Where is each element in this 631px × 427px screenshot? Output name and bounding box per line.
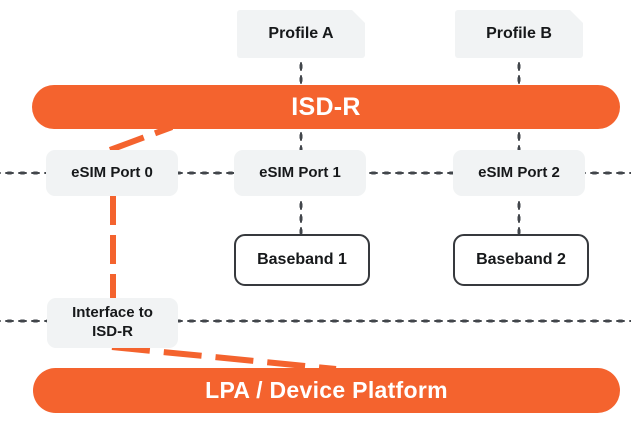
baseband-1-label: Baseband 1	[257, 251, 347, 269]
profile-b-label: Profile B	[486, 24, 552, 44]
isdr-label: ISD-R	[291, 93, 361, 122]
interface-to-isdr-box[interactable]: Interface to ISD-R	[47, 298, 178, 348]
diagram-canvas: Profile A Profile B ISD-R eSIM Port 0 eS…	[0, 0, 631, 427]
profile-b-box[interactable]: Profile B	[455, 10, 583, 58]
connector-profile-a-to-isdr	[299, 60, 303, 86]
esim-port-2-box[interactable]: eSIM Port 2	[453, 150, 585, 196]
esim-port-0-box[interactable]: eSIM Port 0	[46, 150, 178, 196]
interface-to-isdr-label-line1: Interface to	[72, 304, 153, 323]
baseband-2-box[interactable]: Baseband 2	[453, 234, 589, 286]
esim-port-0-label: eSIM Port 0	[71, 164, 153, 183]
profile-a-box[interactable]: Profile A	[237, 10, 365, 58]
connector-port1-to-baseband1	[299, 199, 303, 234]
dashed-link-interface-to-lpa	[112, 347, 336, 369]
baseband-2-label: Baseband 2	[476, 251, 566, 269]
connector-isdr-to-port2	[517, 130, 521, 152]
lpa-label: LPA / Device Platform	[205, 377, 448, 404]
connector-port2-to-baseband2	[517, 199, 521, 234]
isdr-bar[interactable]: ISD-R	[32, 85, 620, 129]
connector-isdr-to-port1	[299, 130, 303, 152]
interface-to-isdr-label-line2: ISD-R	[92, 323, 133, 342]
baseband-1-box[interactable]: Baseband 1	[234, 234, 370, 286]
dashed-connectors	[0, 0, 631, 427]
connector-profile-b-to-isdr	[517, 60, 521, 86]
lpa-device-platform-bar[interactable]: LPA / Device Platform	[33, 368, 620, 413]
esim-port-1-label: eSIM Port 1	[259, 164, 341, 183]
esim-port-1-box[interactable]: eSIM Port 1	[234, 150, 366, 196]
profile-a-label: Profile A	[268, 24, 333, 44]
dashed-link-port0-to-isdr	[110, 127, 172, 150]
esim-port-2-label: eSIM Port 2	[478, 164, 560, 183]
